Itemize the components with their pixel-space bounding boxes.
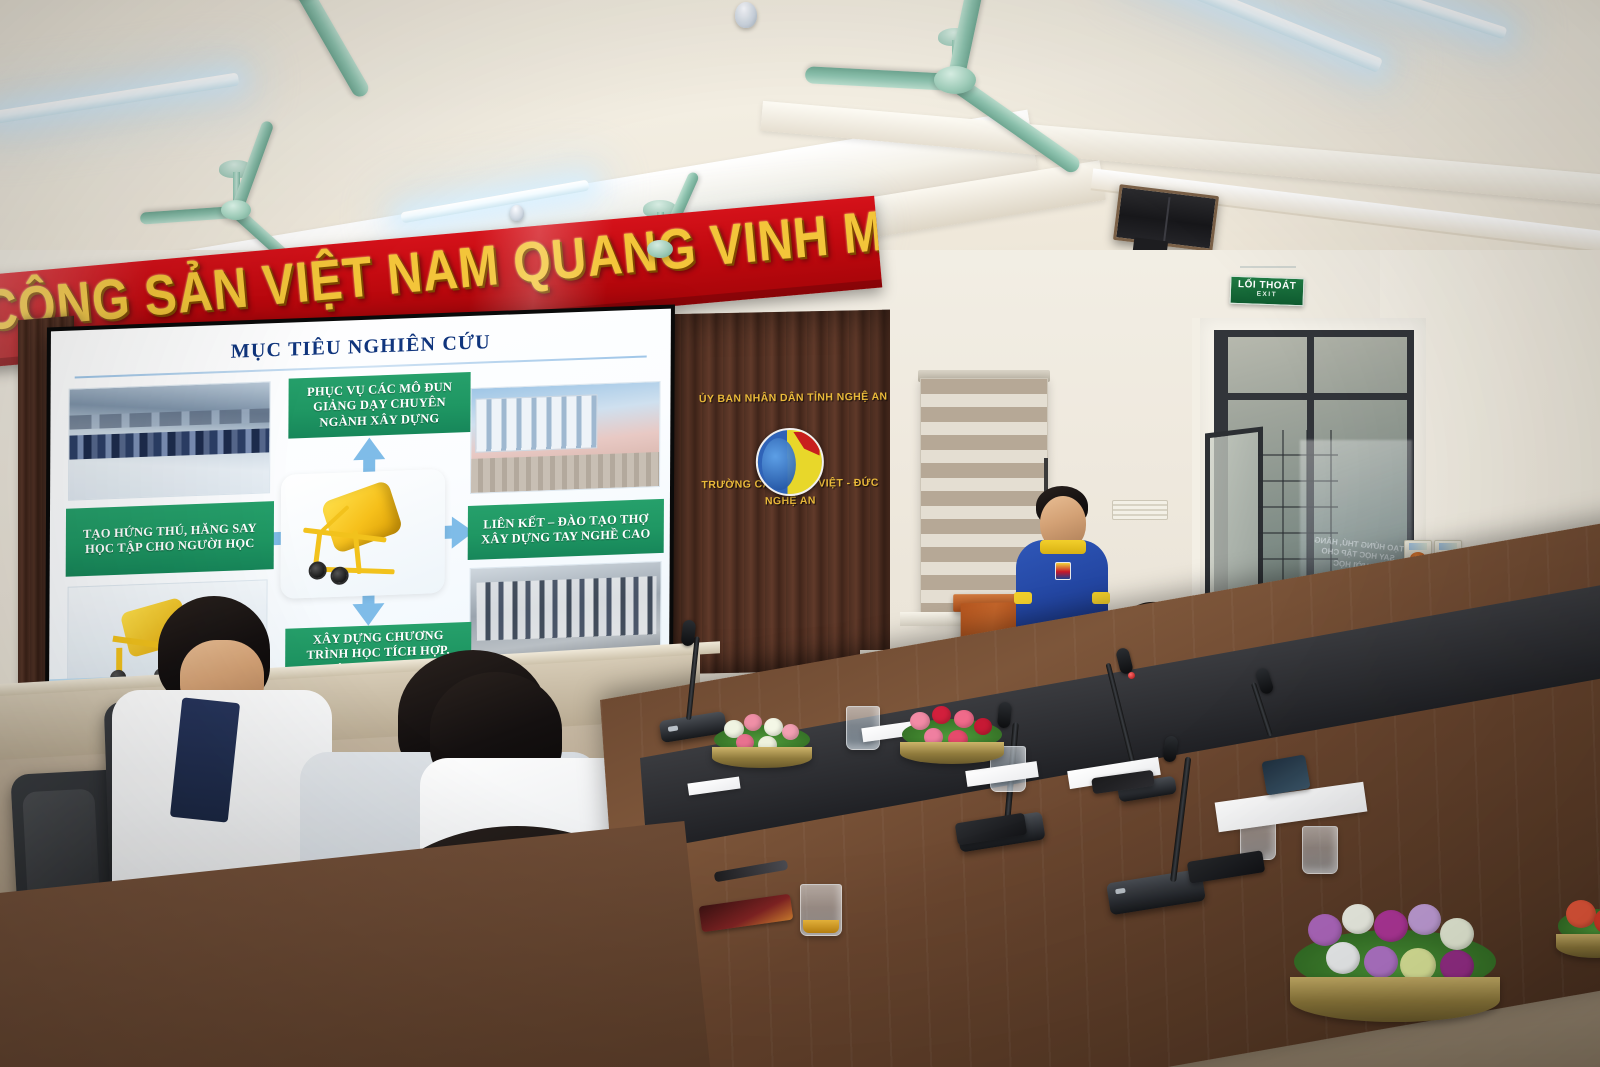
flower-petal <box>1364 946 1398 978</box>
bouquet-basket <box>712 747 812 768</box>
flower-petal <box>910 712 930 730</box>
presenter-collar <box>1040 540 1086 554</box>
arrow-down-icon <box>352 603 384 626</box>
flower-petal <box>1326 942 1360 974</box>
slide-photo-school <box>470 381 661 494</box>
air-vent <box>1112 500 1168 520</box>
presenter-sleeve-trim <box>1092 592 1110 604</box>
flower-petal <box>932 706 951 724</box>
presenter-sleeve-trim <box>1014 592 1032 604</box>
wall-sign-line-1: ỦY BAN NHÂN DÂN TỈNH NGHỆ AN <box>699 391 879 406</box>
youth-union-badge-icon <box>1055 562 1071 580</box>
fan-hub <box>647 240 673 258</box>
bouquet-basket <box>1556 934 1600 958</box>
conference-room-photo: CỘNG SẢN VIỆT NAM QUANG VINH MUÔN NĂM ỦY… <box>0 0 1600 1067</box>
mic-indicator <box>668 725 679 732</box>
flower-petal <box>1408 904 1441 935</box>
flower-petal <box>782 724 799 740</box>
slide-title: MỤC TIÊU NGHIÊN CỨU <box>51 325 671 371</box>
institution-wall-sign: ỦY BAN NHÂN DÂN TỈNH NGHỆ AN TRƯỜNG CAO … <box>699 391 881 553</box>
flower-arrangement <box>900 700 1004 764</box>
mic-red-indicator <box>1128 672 1135 679</box>
flower-petal <box>1342 904 1374 934</box>
star-icon <box>805 437 814 446</box>
mixer-wheel <box>309 561 327 580</box>
slide-photo-factory <box>68 381 271 500</box>
mic-indicator <box>1115 888 1126 895</box>
slide-center-mixer-illustration <box>281 469 446 599</box>
door-mullion <box>1221 393 1407 400</box>
flower-arrangement <box>712 706 812 768</box>
bouquet-basket <box>1290 977 1500 1022</box>
water-glass <box>1302 826 1338 874</box>
flower-arrangement <box>1290 890 1500 1022</box>
smoke-detector-icon <box>510 205 524 221</box>
speaker-divider <box>1163 197 1171 243</box>
slide-box-right: LIÊN KẾT – ĐÀO TẠO THỢ XÂY DỰNG TAY NGHỀ… <box>468 499 664 560</box>
tea-glass <box>800 884 842 936</box>
socket-label <box>1409 543 1427 550</box>
smoke-detector-icon <box>735 2 757 28</box>
flower-petal <box>954 710 974 728</box>
flower-petal <box>764 718 783 736</box>
mixer-wheel <box>331 566 349 585</box>
flower-petal <box>1566 900 1596 928</box>
flower-petal <box>1440 918 1474 950</box>
flower-petal <box>974 718 992 735</box>
flower-arrangement <box>1556 888 1600 958</box>
led-presentation-screen[interactable]: MỤC TIÊU NGHIÊN CỨU <box>45 304 675 699</box>
flower-petal <box>744 714 762 731</box>
flower-petal <box>1308 914 1342 946</box>
fan-hub <box>934 66 976 94</box>
exit-sign: LỐI THOÁT EXIT <box>1230 276 1305 307</box>
slide-box-top: PHỤC VỤ CÁC MÔ ĐUN GIẢNG DẠY CHUYÊN NGÀN… <box>288 372 470 439</box>
wall-speaker <box>1113 184 1219 252</box>
slide-canvas: MỤC TIÊU NGHIÊN CỨU <box>49 309 671 694</box>
fan-hub <box>221 200 251 220</box>
bouquet-basket <box>900 742 1004 764</box>
flower-petal <box>1374 910 1408 942</box>
slide-box-left: TẠO HỨNG THÚ, HĂNG SAY HỌC TẬP CHO NGƯỜI… <box>66 501 274 577</box>
